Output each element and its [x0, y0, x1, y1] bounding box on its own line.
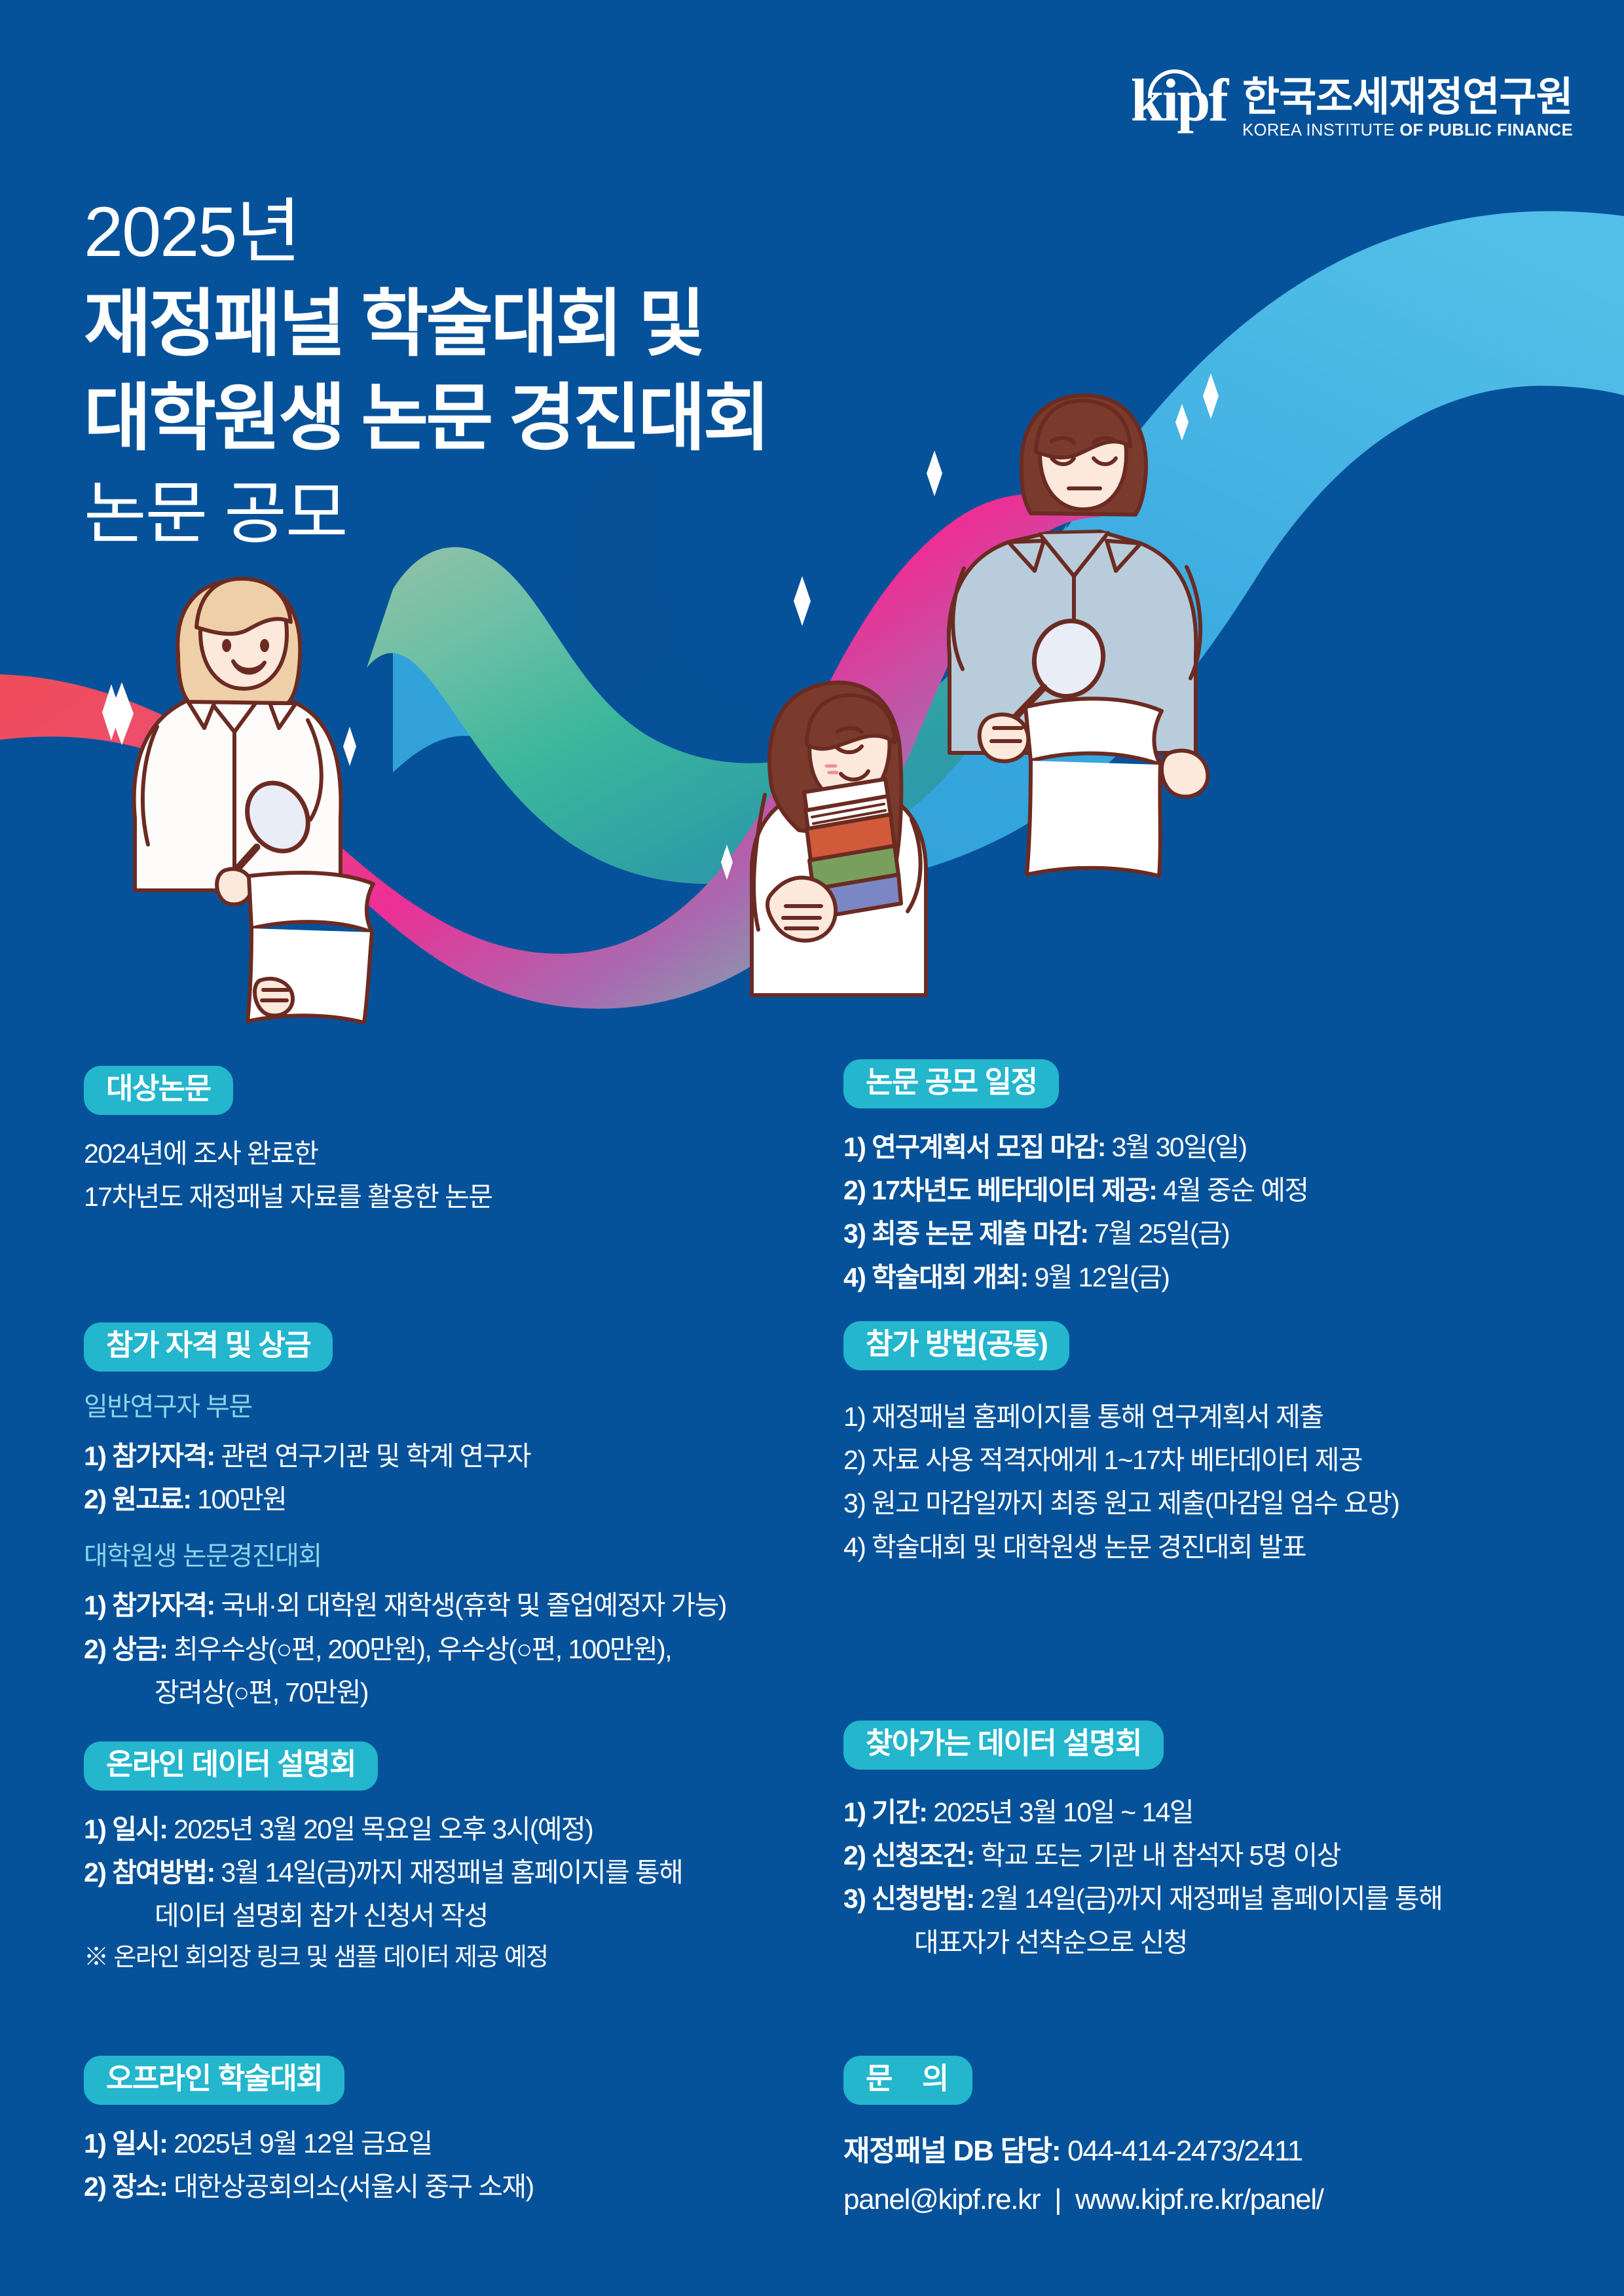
list-item-num: 3): [843, 1218, 865, 1248]
list-item-num: 1): [84, 1590, 105, 1620]
ribbon-teal: [367, 524, 1067, 884]
list-item-continuation: 대표자가 선착순으로 신청: [843, 1921, 1442, 1964]
logo-name-en-light: KOREA INSTITUTE: [1242, 121, 1399, 139]
title-subtitle: 논문 공모: [84, 470, 768, 558]
list-item-num: 1): [84, 1441, 105, 1471]
list-item: 4) 학술대회 개최: 9월 12일(금): [843, 1256, 1308, 1299]
list-item-value: 대한상공회의소(서울시 중구 소재): [174, 2172, 533, 2202]
list-item-value: 3월 14일(금)까지 재정패널 홈페이지를 통해: [221, 1857, 682, 1887]
list-item-label: 신청조건:: [872, 1840, 974, 1870]
sparkle-icon-1: [102, 684, 120, 740]
inquiry-phone-number: 044-414-2473/2411: [1067, 2135, 1302, 2167]
target-paper-line: 17차년도 재정패널 자료를 활용한 논문: [84, 1175, 492, 1218]
sparkle-icon-7: [1058, 406, 1077, 461]
list-item: 3) 원고 마감일까지 최종 원고 제출(마감일 엄수 요망): [843, 1482, 1399, 1525]
how-to-join-lines: 1) 재정패널 홈페이지를 통해 연구계획서 제출 2) 자료 사용 적격자에게…: [843, 1395, 1399, 1569]
logo-name-kr: 한국조세재정연구원: [1242, 76, 1573, 118]
section-heading-target-paper: 대상논문: [84, 1066, 233, 1115]
list-item-value: 9월 12일(금): [1034, 1262, 1169, 1292]
sparkle-icon-5: [816, 825, 833, 875]
list-item-num: 2): [843, 1840, 865, 1870]
list-item-label: 학술대회 개최:: [872, 1262, 1028, 1292]
sparkle-icon-4: [721, 845, 733, 880]
inquiry-phone-row: 재정패널 DB 담당: 044-414-2473/2411: [843, 2127, 1323, 2176]
list-item-label: 원고료:: [112, 1484, 191, 1514]
list-item-value: 국내·외 대학원 재학생(휴학 및 졸업예정자 가능): [221, 1590, 726, 1620]
sparkle-icon-8: [927, 450, 942, 496]
list-item-label: 17차년도 베타데이터 제공:: [872, 1175, 1156, 1205]
list-item: 2) 장소: 대한상공회의소(서울시 중구 소재): [84, 2165, 534, 2208]
list-item: 2) 17차년도 베타데이터 제공: 4월 중순 예정: [843, 1169, 1308, 1212]
list-item: 1) 일시: 2025년 9월 12일 금요일: [84, 2122, 534, 2165]
schedule-lines: 1) 연구계획서 모집 마감: 3월 30일(일) 2) 17차년도 베타데이터…: [843, 1125, 1308, 1300]
title-main-line-1: 재정패널 학술대회 및: [84, 277, 768, 371]
section-offline-conference: 오프라인 학술대회 1) 일시: 2025년 9월 12일 금요일 2) 장소:…: [84, 2056, 534, 2208]
woman-hugging-books-illustration: [752, 683, 926, 995]
list-item-value: 학교 또는 기관 내 참석자 5명 이상: [980, 1840, 1340, 1870]
list-item-label: 장소:: [112, 2172, 167, 2202]
list-item-value: 7월 25일(금): [1094, 1218, 1229, 1248]
list-item-value: 2025년 9월 12일 금요일: [174, 2128, 432, 2159]
section-heading-inquiry: 문 의: [843, 2056, 972, 2105]
section-heading-schedule: 논문 공모 일정: [843, 1059, 1059, 1108]
online-session-note: ※ 온라인 회의장 링크 및 샘플 데이터 제공 예정: [84, 1938, 682, 1978]
list-item-label: 참여방법:: [112, 1857, 215, 1887]
list-item-num: 2): [843, 1175, 865, 1205]
sparkle-icon-6: [794, 576, 811, 626]
man-with-magnifier-illustration: [949, 395, 1208, 876]
list-item: 2) 자료 사용 적격자에게 1~17차 베타데이터 제공: [843, 1438, 1399, 1482]
list-item-label: 참가자격:: [112, 1590, 215, 1620]
sparkle-icon-2: [343, 727, 356, 766]
list-item-value: 최우수상(○편, 200만원), 우수상(○편, 100만원),: [174, 1634, 671, 1664]
list-item-label: 일시:: [112, 1814, 167, 1844]
eligibility-group1-label: 일반연구자 부문: [84, 1391, 726, 1423]
inquiry-website[interactable]: www.kipf.re.kr/panel/: [1075, 2183, 1323, 2215]
section-eligibility: 참가 자격 및 상금 일반연구자 부문 1) 참가자격: 관련 연구기관 및 학…: [84, 1322, 726, 1715]
list-item-num: 2): [84, 1857, 105, 1887]
title-year: 2025년: [84, 190, 768, 273]
poster-root: kipf 한국조세재정연구원 KOREA INSTITUTE OF PUBLIC…: [0, 0, 1624, 2296]
section-visiting-session: 찾아가는 데이터 설명회 1) 기간: 2025년 3월 10일 ~ 14일 2…: [843, 1721, 1442, 1964]
list-item-value: 2월 14일(금)까지 재정패널 홈페이지를 통해: [980, 1884, 1442, 1914]
list-item: 2) 상금: 최우수상(○편, 200만원), 우수상(○편, 100만원),: [84, 1628, 726, 1671]
section-heading-offline-conference: 오프라인 학술대회: [84, 2056, 344, 2105]
section-inquiry: 문 의 재정패널 DB 담당: 044-414-2473/2411 panel@…: [843, 2056, 1323, 2225]
list-item-value: 4월 중순 예정: [1163, 1175, 1308, 1205]
visiting-session-lines: 1) 기간: 2025년 3월 10일 ~ 14일 2) 신청조건: 학교 또는…: [843, 1791, 1442, 1965]
list-item: 2) 참여방법: 3월 14일(금)까지 재정패널 홈페이지를 통해: [84, 1851, 682, 1894]
list-item: 1) 연구계획서 모집 마감: 3월 30일(일): [843, 1125, 1308, 1169]
sparkle-icon: [110, 682, 134, 745]
list-item-num: 4): [843, 1262, 865, 1292]
section-schedule: 논문 공모 일정 1) 연구계획서 모집 마감: 3월 30일(일) 2) 17…: [843, 1059, 1308, 1299]
ribbon-pink: [0, 494, 1100, 1008]
list-item: 1) 기간: 2025년 3월 10일 ~ 14일: [843, 1791, 1442, 1834]
page-title: 2025년 재정패널 학술대회 및 대학원생 논문 경진대회 논문 공모: [84, 190, 768, 558]
list-item-num: 1): [843, 1132, 865, 1162]
section-heading-online-session: 온라인 데이터 설명회: [84, 1741, 378, 1791]
list-item-num: 2): [84, 1484, 105, 1514]
list-item-label: 기간:: [872, 1797, 927, 1827]
list-item-label: 상금:: [112, 1634, 167, 1664]
list-item: 3) 최종 논문 제출 마감: 7월 25일(금): [843, 1212, 1308, 1255]
target-paper-lines: 2024년에 조사 완료한 17차년도 재정패널 자료를 활용한 논문: [84, 1132, 492, 1219]
list-item: 3) 신청방법: 2월 14일(금)까지 재정패널 홈페이지를 통해: [843, 1877, 1442, 1920]
inquiry-phone-label: 재정패널 DB 담당:: [843, 2135, 1060, 2167]
eligibility-group1-lines: 1) 참가자격: 관련 연구기관 및 학계 연구자 2) 원고료: 100만원: [84, 1434, 726, 1522]
list-item: 1) 참가자격: 국내·외 대학원 재학생(휴학 및 졸업예정자 가능): [84, 1584, 726, 1627]
kipf-logo: kipf 한국조세재정연구원 KOREA INSTITUTE OF PUBLIC…: [1131, 73, 1573, 140]
sparkle-icon-9: [1203, 373, 1219, 419]
list-item-label: 연구계획서 모집 마감:: [872, 1132, 1105, 1162]
section-heading-visiting-session: 찾아가는 데이터 설명회: [843, 1721, 1164, 1770]
list-item-value: 100만원: [197, 1484, 286, 1514]
woman-with-magnifier-illustration: [134, 579, 373, 1023]
list-item: 1) 일시: 2025년 3월 20일 목요일 오후 3시(예정): [84, 1808, 682, 1851]
list-item-value: 3월 30일(일): [1112, 1132, 1247, 1162]
list-item-continuation: 장려상(○편, 70만원): [84, 1671, 726, 1714]
list-item: 2) 신청조건: 학교 또는 기관 내 참석자 5명 이상: [843, 1834, 1442, 1877]
logo-name-en: KOREA INSTITUTE OF PUBLIC FINANCE: [1242, 121, 1573, 140]
list-item-label: 신청방법:: [872, 1884, 974, 1914]
eligibility-group2-label: 대학원생 논문경진대회: [84, 1540, 726, 1572]
list-item-num: 1): [84, 1814, 105, 1844]
sparkle-icon-3: [313, 761, 323, 792]
list-item-continuation: 데이터 설명회 참가 신청서 작성: [84, 1894, 682, 1937]
online-session-lines: 1) 일시: 2025년 3월 20일 목요일 오후 3시(예정) 2) 참여방…: [84, 1808, 682, 1978]
list-item-label: 참가자격:: [112, 1441, 215, 1471]
section-target-paper: 대상논문 2024년에 조사 완료한 17차년도 재정패널 자료를 활용한 논문: [84, 1066, 492, 1218]
logo-name-en-bold: OF PUBLIC FINANCE: [1399, 121, 1573, 139]
target-paper-line: 2024년에 조사 완료한: [84, 1132, 492, 1175]
list-item: 2) 원고료: 100만원: [84, 1478, 726, 1521]
list-item: 1) 재정패널 홈페이지를 통해 연구계획서 제출: [843, 1395, 1399, 1438]
list-item-value: 2025년 3월 10일 ~ 14일: [933, 1797, 1193, 1827]
list-item-num: 1): [84, 2128, 105, 2159]
logo-mark: kipf: [1131, 73, 1230, 128]
eligibility-group2-lines: 1) 참가자격: 국내·외 대학원 재학생(휴학 및 졸업예정자 가능) 2) …: [84, 1584, 726, 1714]
list-item: 1) 참가자격: 관련 연구기관 및 학계 연구자: [84, 1434, 726, 1478]
list-item-label: 최종 논문 제출 마감:: [872, 1218, 1088, 1248]
list-item-num: 3): [843, 1884, 865, 1914]
section-online-session: 온라인 데이터 설명회 1) 일시: 2025년 3월 20일 목요일 오후 3…: [84, 1741, 682, 1978]
inquiry-separator: |: [1054, 2183, 1061, 2215]
logo-wordmark: 한국조세재정연구원 KOREA INSTITUTE OF PUBLIC FINA…: [1242, 73, 1573, 140]
list-item-num: 1): [843, 1797, 865, 1827]
section-how-to-join: 참가 방법(공통) 1) 재정패널 홈페이지를 통해 연구계획서 제출 2) 자…: [843, 1321, 1399, 1569]
title-main-line-2: 대학원생 논문 경진대회: [84, 371, 768, 465]
inquiry-email[interactable]: panel@kipf.re.kr: [843, 2183, 1040, 2215]
inquiry-web-row: panel@kipf.re.kr | www.kipf.re.kr/panel/: [843, 2176, 1323, 2225]
inquiry-lines: 재정패널 DB 담당: 044-414-2473/2411 panel@kipf…: [843, 2127, 1323, 2225]
list-item-label: 일시:: [112, 2128, 167, 2159]
section-heading-how-to-join: 참가 방법(공통): [843, 1321, 1069, 1370]
list-item: 4) 학술대회 및 대학원생 논문 경진대회 발표: [843, 1525, 1399, 1569]
section-heading-eligibility: 참가 자격 및 상금: [84, 1322, 333, 1372]
offline-conference-lines: 1) 일시: 2025년 9월 12일 금요일 2) 장소: 대한상공회의소(서…: [84, 2122, 534, 2209]
list-item-num: 2): [84, 1634, 105, 1664]
list-item-value: 2025년 3월 20일 목요일 오후 3시(예정): [174, 1814, 593, 1844]
list-item-value: 관련 연구기관 및 학계 연구자: [221, 1441, 530, 1471]
list-item-num: 2): [84, 2172, 105, 2202]
sparkle-icon-10: [1175, 404, 1189, 441]
